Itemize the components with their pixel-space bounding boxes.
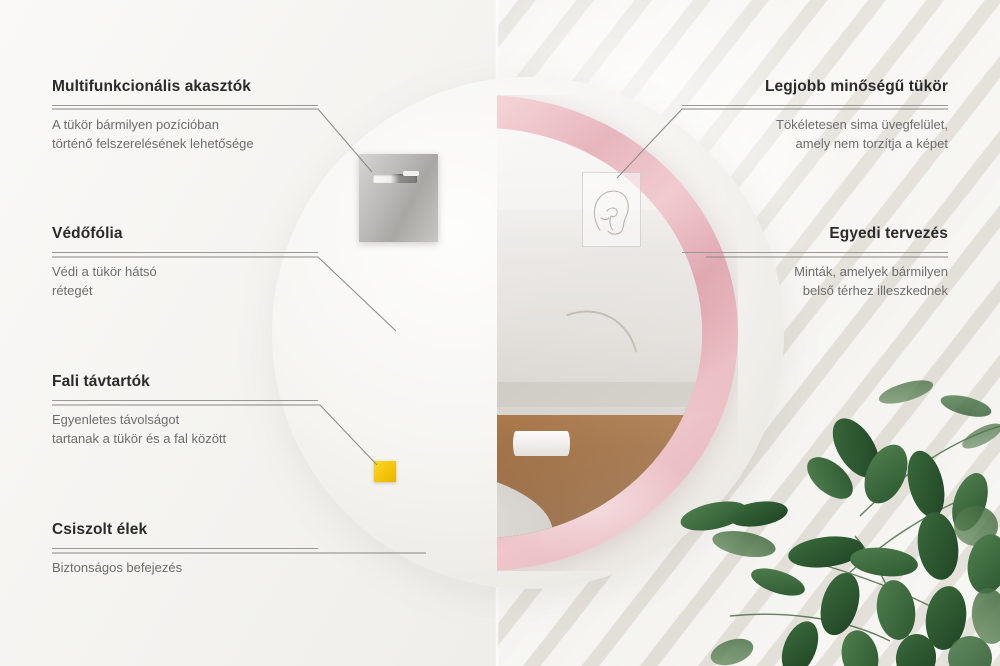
callout-title: Multifunkcionális akasztók [52,78,318,96]
product-infographic: Multifunkcionális akasztók A tükör bármi… [0,0,1000,666]
desc-line-1: Biztonságos befejezés [52,560,182,575]
wall-spacer-yellow [374,461,396,482]
callout-description: Védi a tükör hátsó rétegét [52,263,318,301]
callout-description: Egyenletes távolságot tartanak a tükör é… [52,411,318,449]
callout-fali-tavtartok: Fali távtartók Egyenletes távolságot tar… [52,373,318,449]
desc-line-1: Minták, amelyek bármilyen [794,264,948,279]
hanger-plate [359,154,438,242]
callout-title: Legjobb minőségű tükör [682,78,948,96]
hanger-keyhole-slot [373,174,417,183]
callout-title: Egyedi tervezés [682,225,948,243]
callout-csiszolt-elek: Csiszolt élek Biztonságos befejezés [52,521,318,578]
callout-title: Fali távtartók [52,373,318,391]
callout-rule [52,400,318,401]
desc-line-2: belső térhez illeszkednek [803,283,948,298]
callout-rule [682,252,948,253]
callout-title: Csiszolt élek [52,521,318,539]
desc-line-1: A tükör bármilyen pozícióban [52,117,219,132]
desc-line-2: történő felszerelésének lehetősége [52,136,254,151]
callout-vedofolia: Védőfólia Védi a tükör hátsó rétegét [52,225,318,301]
desc-line-2: tartanak a tükör és a fal között [52,431,226,446]
callout-rule [52,252,318,253]
callout-multifunkcionalis-akasztok: Multifunkcionális akasztók A tükör bármi… [52,78,318,154]
callout-legjobb-minosegu-tukor: Legjobb minőségű tükör Tökéletesen sima … [682,78,948,154]
callout-egyedi-tervezes: Egyedi tervezés Minták, amelyek bármilye… [682,225,948,301]
callout-description: Tökéletesen sima üvegfelület, amely nem … [682,116,948,154]
callout-rule [682,105,948,106]
callout-description: A tükör bármilyen pozícióban történő fel… [52,116,318,154]
callout-description: Minták, amelyek bármilyen belső térhez i… [682,263,948,301]
desc-line-2: rétegét [52,283,92,298]
callout-rule [52,105,318,106]
callout-rule [52,548,318,549]
mirror-product [497,95,738,571]
desc-line-2: amely nem torzítja a képet [796,136,948,151]
reflected-line-art-poster [582,172,641,247]
callout-title: Védőfólia [52,225,318,243]
callout-description: Biztonságos befejezés [52,559,318,578]
desc-line-1: Tökéletesen sima üvegfelület, [776,117,948,132]
desc-line-1: Egyenletes távolságot [52,412,179,427]
desc-line-1: Védi a tükör hátsó [52,264,157,279]
